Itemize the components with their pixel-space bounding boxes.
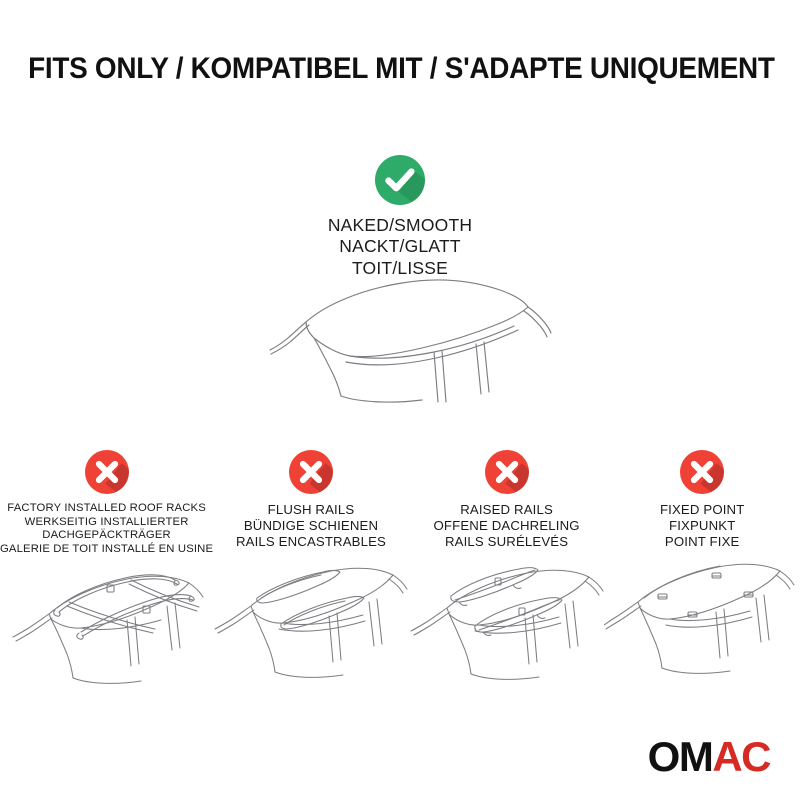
logo-text-om: OM [648, 736, 713, 778]
rejected-labels: FACTORY INSTALLED ROOF RACKS WERKSEITIG … [0, 502, 213, 556]
rejected-label-en: FACTORY INSTALLED ROOF RACKS [0, 502, 213, 516]
rejected-labels: RAISED RAILS OFFENE DACHRELING RAILS SUR… [409, 502, 605, 550]
fixed-point-illustration [604, 554, 800, 704]
rejected-item-raised-rails: RAISED RAILS OFFENE DACHRELING RAILS SUR… [409, 450, 605, 750]
x-circle-icon [85, 450, 129, 494]
page-title-text: FITS ONLY / KOMPATIBEL MIT / S'ADAPTE UN… [28, 52, 775, 86]
check-circle-icon [375, 155, 425, 205]
approved-label-de: NACKT/GLATT [0, 236, 800, 257]
approved-labels: NAKED/SMOOTH NACKT/GLATT TOIT/LISSE [0, 215, 800, 279]
rejected-item-factory-installed-roof-racks: FACTORY INSTALLED ROOF RACKS WERKSEITIG … [0, 450, 213, 750]
rejected-label-de: FIXPUNKT [604, 518, 800, 534]
rejected-label-de-1: WERKSEITIG INSTALLIERTER [0, 516, 213, 530]
rejected-label-de: OFFENE DACHRELING [409, 518, 605, 534]
x-circle-icon [680, 450, 724, 494]
approved-roof-type-block: NAKED/SMOOTH NACKT/GLATT TOIT/LISSE [0, 155, 800, 279]
x-circle-icon [485, 450, 529, 494]
rejected-label-en: RAISED RAILS [409, 502, 605, 518]
page-title: FITS ONLY / KOMPATIBEL MIT / S'ADAPTE UN… [0, 52, 800, 86]
rejected-item-fixed-point: FIXED POINT FIXPUNKT POINT FIXE [604, 450, 800, 750]
rejected-label-en: FIXED POINT [604, 502, 800, 518]
rejected-item-flush-rails: FLUSH RAILS BÜNDIGE SCHIENEN RAILS ENCAS… [213, 450, 409, 750]
approved-label-en: NAKED/SMOOTH [0, 215, 800, 236]
factory-roof-rack-illustration [0, 554, 213, 704]
raised-rails-illustration [409, 554, 605, 704]
rejected-roof-types-grid: FACTORY INSTALLED ROOF RACKS WERKSEITIG … [0, 450, 800, 750]
rejected-label-fr: RAILS SURÉLEVÉS [409, 534, 605, 550]
rejected-label-de: BÜNDIGE SCHIENEN [213, 518, 409, 534]
rejected-label-de-2: DACHGEPÄCKTRÄGER [0, 529, 213, 543]
rejected-label-fr: POINT FIXE [604, 534, 800, 550]
naked-smooth-roof-illustration [262, 276, 562, 406]
omac-logo: OM AC [648, 736, 770, 778]
logo-text-ac: AC [712, 736, 770, 778]
rejected-labels: FIXED POINT FIXPUNKT POINT FIXE [604, 502, 800, 550]
rejected-labels: FLUSH RAILS BÜNDIGE SCHIENEN RAILS ENCAS… [213, 502, 409, 550]
rejected-label-en: FLUSH RAILS [213, 502, 409, 518]
flush-rails-illustration [213, 554, 409, 704]
x-circle-icon [289, 450, 333, 494]
rejected-label-fr: RAILS ENCASTRABLES [213, 534, 409, 550]
